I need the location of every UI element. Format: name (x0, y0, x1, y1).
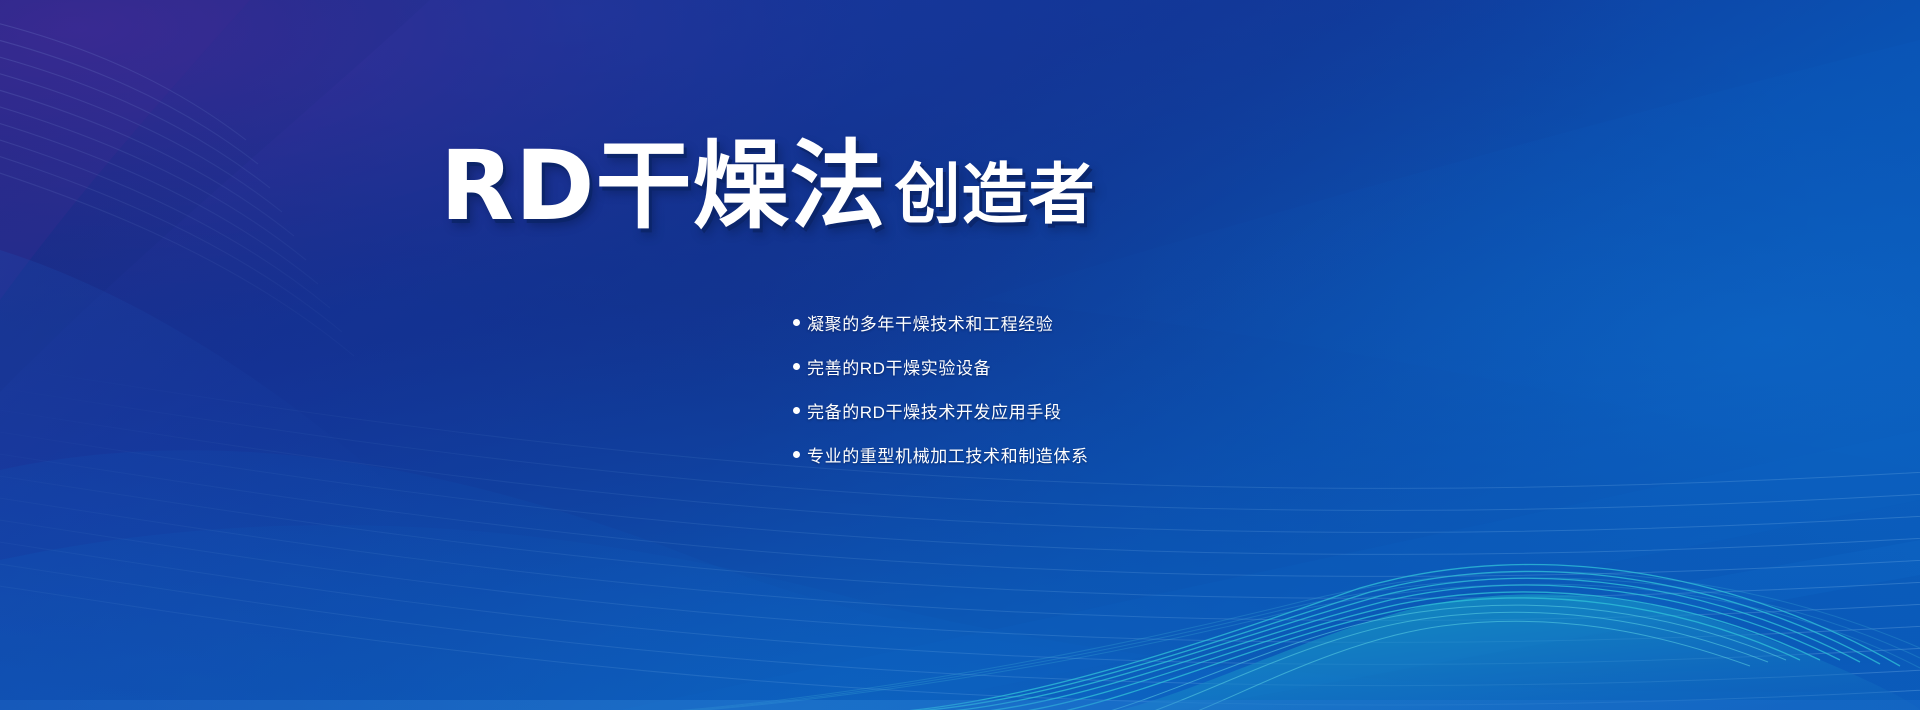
feature-text: 完善的RD干燥实验设备 (807, 354, 991, 379)
headline-sub-text: 创造者 (895, 162, 1096, 228)
feature-text: 凝聚的多年干燥技术和工程经验 (807, 310, 1053, 335)
list-item: 专业的重型机械加工技术和制造体系 (793, 439, 1089, 469)
bullet-dot-icon (793, 363, 800, 370)
bullet-dot-icon (793, 319, 800, 326)
list-item: 完善的RD干燥实验设备 (793, 351, 1089, 381)
banner-content: RD干燥法 创造者 凝聚的多年干燥技术和工程经验 完善的RD干燥实验设备 完备的… (0, 0, 1920, 710)
bullet-dot-icon (793, 451, 800, 458)
hero-banner: RD干燥法 创造者 凝聚的多年干燥技术和工程经验 完善的RD干燥实验设备 完备的… (0, 0, 1920, 710)
headline-main-text: RD干燥法 (440, 138, 887, 234)
feature-list: 凝聚的多年干燥技术和工程经验 完善的RD干燥实验设备 完备的RD干燥技术开发应用… (793, 307, 1089, 469)
feature-text: 专业的重型机械加工技术和制造体系 (807, 442, 1089, 467)
page-title: RD干燥法 创造者 (440, 138, 1096, 234)
bullet-dot-icon (793, 407, 800, 414)
list-item: 完备的RD干燥技术开发应用手段 (793, 395, 1089, 425)
list-item: 凝聚的多年干燥技术和工程经验 (793, 307, 1089, 337)
feature-text: 完备的RD干燥技术开发应用手段 (807, 398, 1062, 423)
